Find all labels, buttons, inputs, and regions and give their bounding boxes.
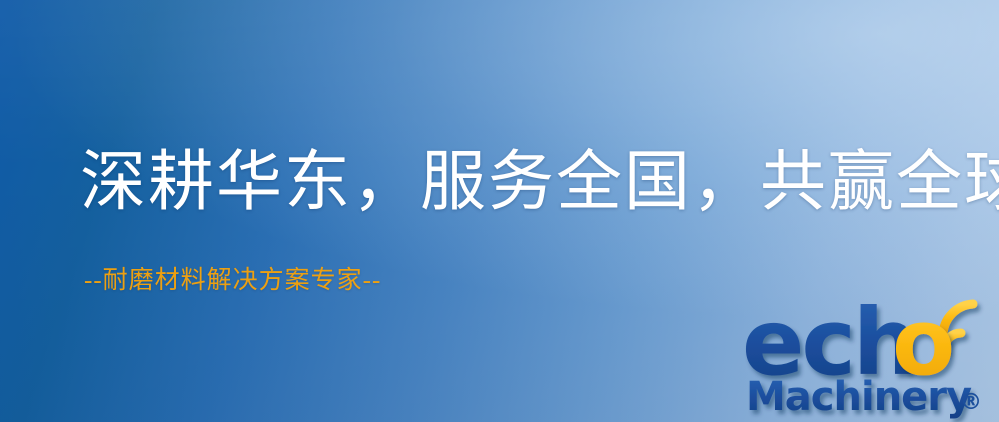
- logo-trademark-symbol: ®: [960, 390, 982, 415]
- banner-subtitle: --耐磨材料解决方案专家--: [84, 266, 381, 296]
- promo-banner: 深耕华东，服务全国，共赢全球 --耐磨材料解决方案专家--: [0, 0, 999, 422]
- echo-machinery-logo: ech o Machinery ®: [742, 288, 994, 418]
- logo-brand-secondary: Machinery: [746, 374, 972, 420]
- banner-headline: 深耕华东，服务全国，共赢全球: [80, 148, 950, 217]
